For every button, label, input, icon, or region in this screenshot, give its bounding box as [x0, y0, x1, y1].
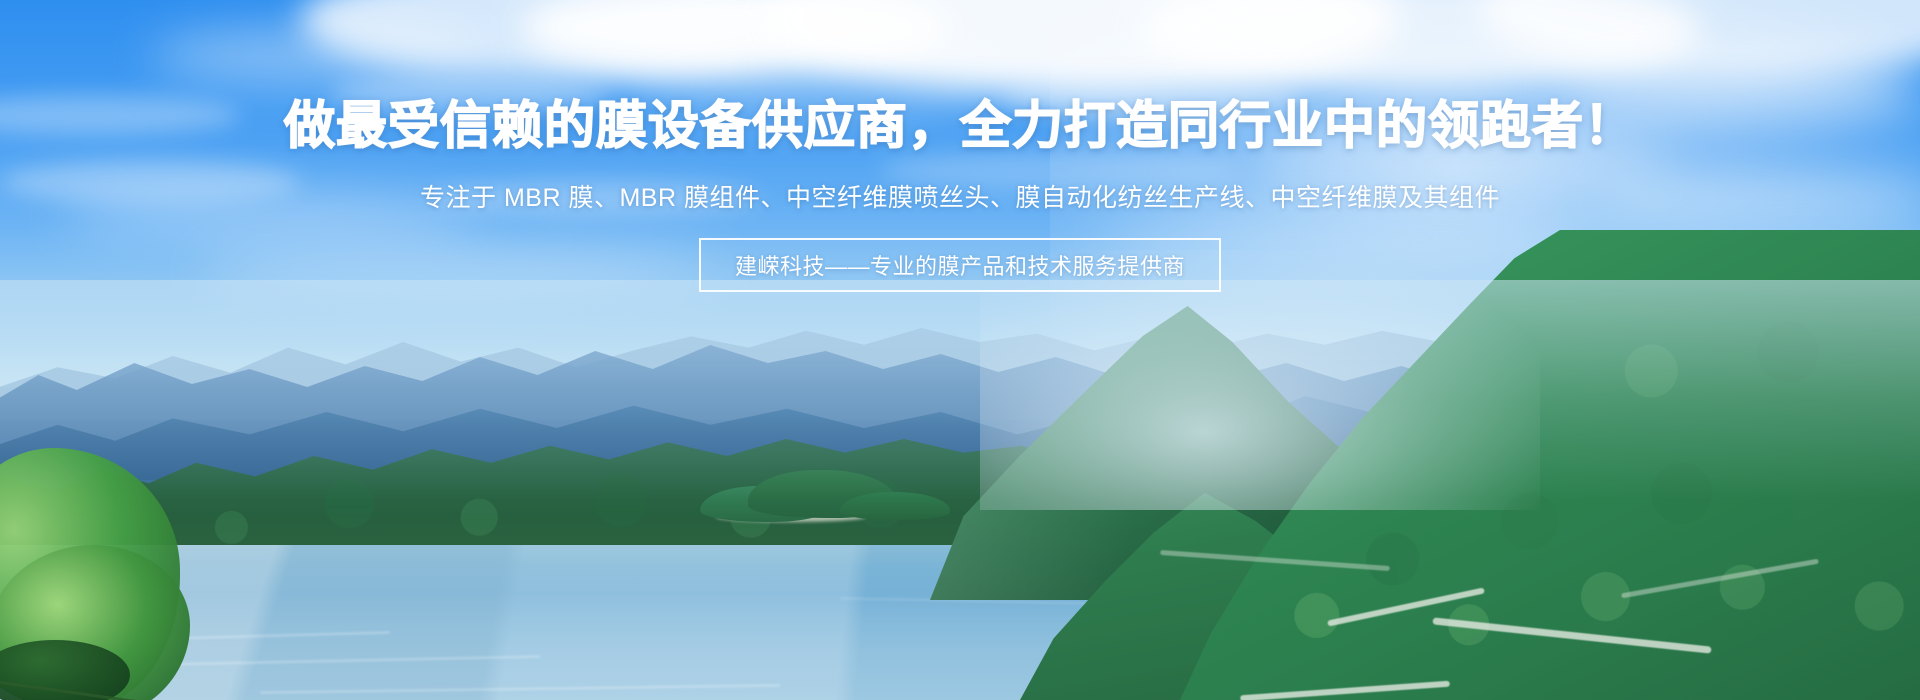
- banner-subtitle: 专注于 MBR 膜、MBR 膜组件、中空纤维膜喷丝头、膜自动化纺丝生产线、中空纤…: [420, 178, 1500, 214]
- banner-headline: 做最受信赖的膜设备供应商，全力打造同行业中的领跑者！: [284, 98, 1636, 154]
- banner-tagline-box: 建嵘科技——专业的膜产品和技术服务提供商: [699, 238, 1221, 292]
- hero-banner: 做最受信赖的膜设备供应商，全力打造同行业中的领跑者！ 专注于 MBR 膜、MBR…: [0, 0, 1920, 700]
- banner-text-layer: 做最受信赖的膜设备供应商，全力打造同行业中的领跑者！ 专注于 MBR 膜、MBR…: [0, 0, 1920, 700]
